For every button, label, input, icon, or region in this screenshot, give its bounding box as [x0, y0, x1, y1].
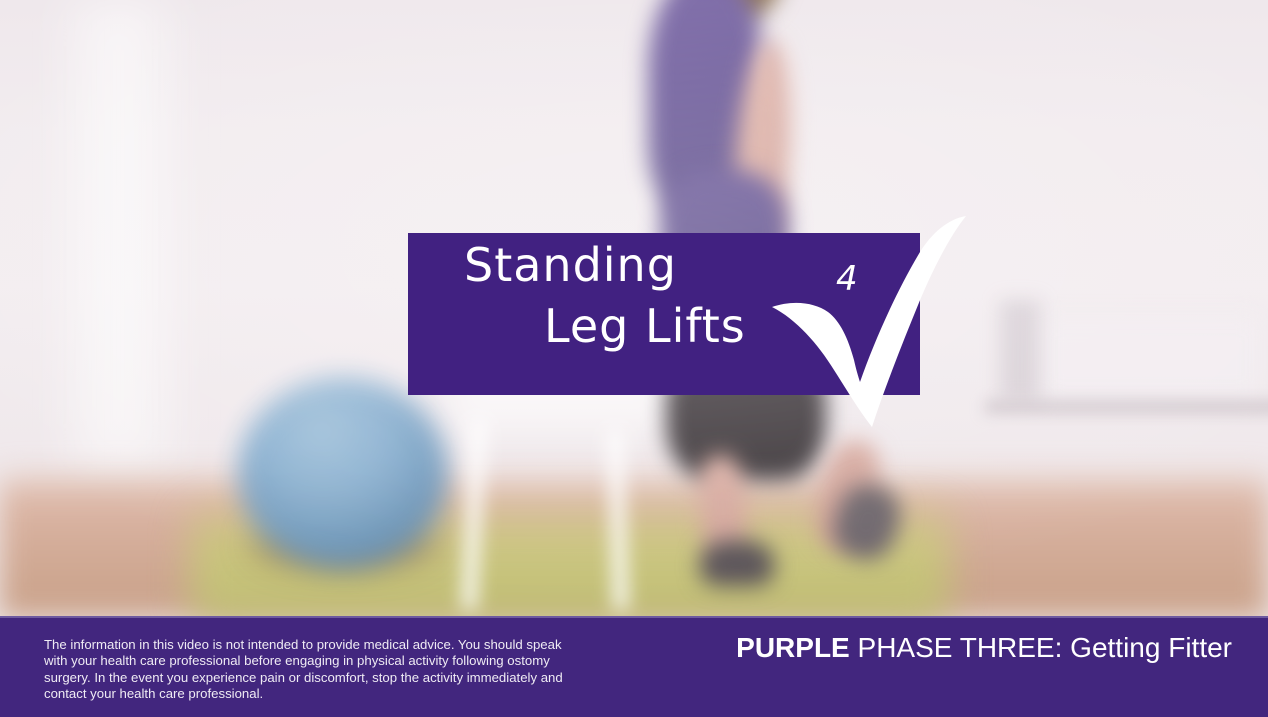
- person-front-shoe: [700, 540, 774, 586]
- exercise-title-line-2: Leg Lifts: [436, 296, 746, 357]
- background-column: [50, 0, 190, 470]
- background-wall-fixture: [1000, 300, 1040, 400]
- background-shelf-panel: [1040, 318, 1260, 398]
- footer-bar: The information in this video is not int…: [0, 616, 1268, 717]
- background-exercise-ball: [238, 378, 448, 568]
- exercise-title: Standing Leg Lifts: [436, 235, 746, 357]
- video-frame: Standing Leg Lifts 4 The information in …: [0, 0, 1268, 717]
- background-shelf: [985, 400, 1268, 414]
- phase-text: PHASE THREE: Getting Fitter: [850, 632, 1232, 663]
- exercise-title-card: Standing Leg Lifts: [408, 233, 920, 395]
- medical-disclaimer: The information in this video is not int…: [44, 637, 574, 703]
- exercise-title-line-1: Standing: [436, 235, 746, 296]
- phase-label: PURPLE PHASE THREE: Getting Fitter: [736, 630, 1232, 666]
- exercise-step-number: 4: [836, 262, 858, 296]
- brand-name: PURPLE: [736, 632, 850, 663]
